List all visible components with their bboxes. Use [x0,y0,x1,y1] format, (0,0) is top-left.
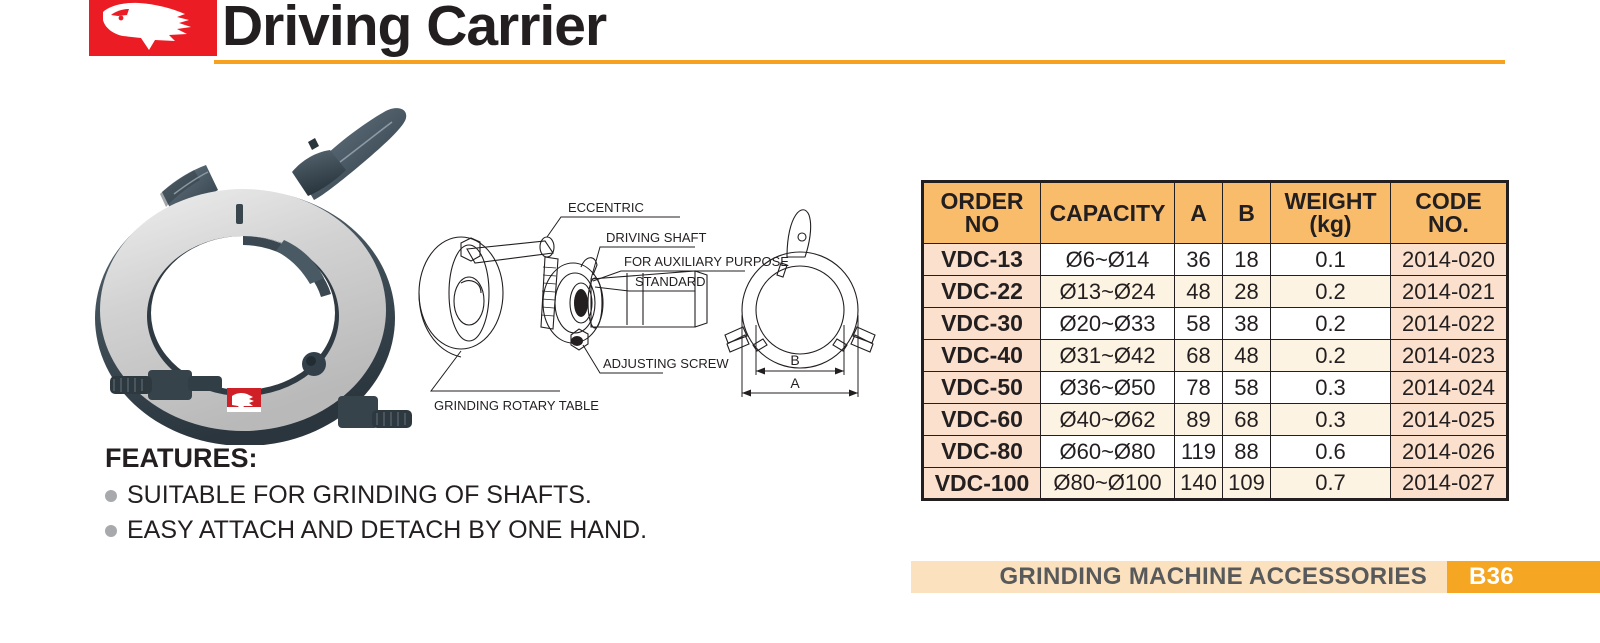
cell-weight: 0.2 [1271,340,1391,372]
table-row: VDC-13Ø6~Ø1436180.12014-020 [923,244,1508,276]
table-row: VDC-40Ø31~Ø4268480.22014-023 [923,340,1508,372]
cell-capacity: Ø31~Ø42 [1041,340,1175,372]
column-header-a: A [1175,182,1223,244]
cell-weight: 0.2 [1271,276,1391,308]
cell-code-no: 2014-023 [1391,340,1508,372]
page-number-label: B36 [1469,563,1514,591]
cell-order-no: VDC-100 [923,468,1041,500]
cell-a: 48 [1175,276,1223,308]
table-row: VDC-22Ø13~Ø2448280.22014-021 [923,276,1508,308]
footer-page-block: B36 [1447,561,1600,593]
technical-diagram: ECCENTRIC DRIVING SHAFT FOR AUXILIARY PU… [395,175,905,440]
diagram-label-adjusting-screw: ADJUSTING SCREW [603,356,729,371]
diagram-label-eccentric: ECCENTRIC [568,200,644,215]
cell-order-no: VDC-80 [923,436,1041,468]
cell-a: 89 [1175,404,1223,436]
feature-item: SUITABLE FOR GRINDING OF SHAFTS. [105,481,805,510]
page-header: Driving Carrier [0,0,1600,72]
cell-b: 28 [1223,276,1271,308]
cell-weight: 0.3 [1271,404,1391,436]
cell-code-no: 2014-020 [1391,244,1508,276]
diagram-label-for-auxiliary-purpose: FOR AUXILIARY PURPOSE [624,254,789,269]
cell-capacity: Ø36~Ø50 [1041,372,1175,404]
cell-a: 119 [1175,436,1223,468]
cell-b: 88 [1223,436,1271,468]
cell-order-no: VDC-50 [923,372,1041,404]
cell-code-no: 2014-025 [1391,404,1508,436]
cell-weight: 0.1 [1271,244,1391,276]
cell-capacity: Ø60~Ø80 [1041,436,1175,468]
cell-a: 78 [1175,372,1223,404]
cell-b: 48 [1223,340,1271,372]
cell-order-no: VDC-30 [923,308,1041,340]
cell-weight: 0.3 [1271,372,1391,404]
cell-capacity: Ø40~Ø62 [1041,404,1175,436]
bullet-icon [105,490,117,502]
diagram-label-driving-shaft: DRIVING SHAFT [606,230,706,245]
diagram-label-standard: STANDARD [635,274,706,289]
cell-capacity: Ø13~Ø24 [1041,276,1175,308]
feature-text: SUITABLE FOR GRINDING OF SHAFTS. [127,481,592,510]
column-header-weight: WEIGHT (kg) [1271,182,1391,244]
cell-order-no: VDC-40 [923,340,1041,372]
table-row: VDC-50Ø36~Ø5078580.32014-024 [923,372,1508,404]
dimension-label-a: A [790,375,800,391]
cell-b: 68 [1223,404,1271,436]
cell-a: 58 [1175,308,1223,340]
page-title: Driving Carrier [222,0,606,62]
cell-b: 38 [1223,308,1271,340]
cell-code-no: 2014-022 [1391,308,1508,340]
cell-order-no: VDC-60 [923,404,1041,436]
column-header-b: B [1223,182,1271,244]
cell-code-no: 2014-024 [1391,372,1508,404]
footer-category-band: GRINDING MACHINE ACCESSORIES [911,561,1447,593]
column-header-code-no: CODE NO. [1391,182,1508,244]
table-header-row: ORDER NO CAPACITY A B WEIGHT (kg) CODE N… [923,182,1508,244]
dimension-label-b: B [790,352,799,368]
page-footer: GRINDING MACHINE ACCESSORIES B36 [911,561,1600,593]
features-section: FEATURES: SUITABLE FOR GRINDING OF SHAFT… [105,443,805,551]
cell-b: 18 [1223,244,1271,276]
cell-capacity: Ø20~Ø33 [1041,308,1175,340]
cell-a: 68 [1175,340,1223,372]
cell-capacity: Ø80~Ø100 [1041,468,1175,500]
footer-category-label: GRINDING MACHINE ACCESSORIES [999,563,1427,591]
cell-order-no: VDC-13 [923,244,1041,276]
table-row: VDC-30Ø20~Ø3358380.22014-022 [923,308,1508,340]
cell-b: 109 [1223,468,1271,500]
diagram-label-grinding-rotary-table: GRINDING ROTARY TABLE [434,398,599,413]
product-photo [40,70,430,445]
cell-code-no: 2014-026 [1391,436,1508,468]
table-row: VDC-80Ø60~Ø80119880.62014-026 [923,436,1508,468]
column-header-capacity: CAPACITY [1041,182,1175,244]
feature-text: EASY ATTACH AND DETACH BY ONE HAND. [127,516,647,545]
column-header-order-no: ORDER NO [923,182,1041,244]
features-heading: FEATURES: [105,443,805,474]
cell-order-no: VDC-22 [923,276,1041,308]
cell-code-no: 2014-021 [1391,276,1508,308]
cell-code-no: 2014-027 [1391,468,1508,500]
cell-weight: 0.2 [1271,308,1391,340]
table-row: VDC-60Ø40~Ø6289680.32014-025 [923,404,1508,436]
cell-capacity: Ø6~Ø14 [1041,244,1175,276]
specification-table: ORDER NO CAPACITY A B WEIGHT (kg) CODE N… [921,180,1509,501]
cell-a: 140 [1175,468,1223,500]
cell-b: 58 [1223,372,1271,404]
catalog-page: Driving Carrier [0,0,1600,643]
title-underline-rule [214,60,1505,64]
eagle-head-logo-icon [89,0,217,56]
feature-item: EASY ATTACH AND DETACH BY ONE HAND. [105,516,805,545]
table-row: VDC-100Ø80~Ø1001401090.72014-027 [923,468,1508,500]
cell-a: 36 [1175,244,1223,276]
cell-weight: 0.7 [1271,468,1391,500]
bullet-icon [105,525,117,537]
cell-weight: 0.6 [1271,436,1391,468]
